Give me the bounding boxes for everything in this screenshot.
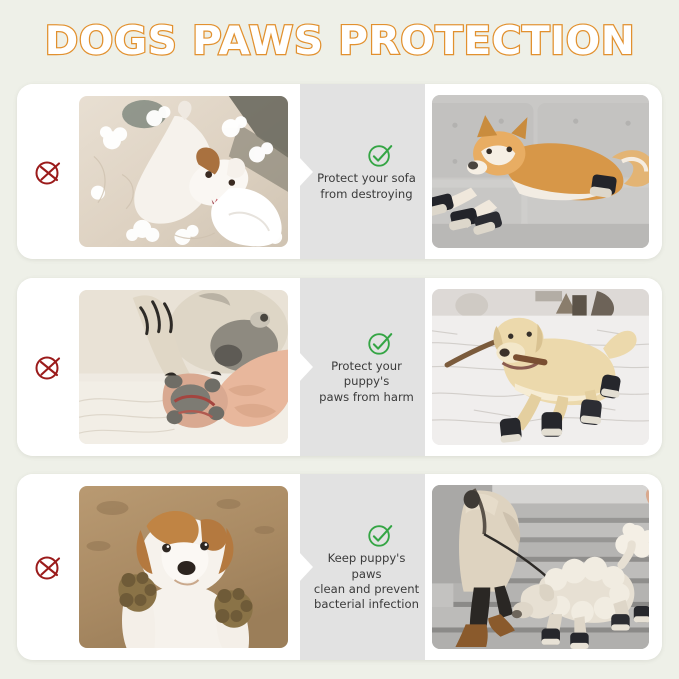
page-title-container: DOGS PAWS PROTECTION: [0, 0, 679, 82]
circle-cross-icon-box: [17, 352, 79, 382]
problem-pane: [17, 474, 300, 660]
benefit-card-sofa: Protect your sofa from destroying: [17, 84, 662, 259]
circle-cross-icon: [33, 552, 63, 582]
arrow-right-icon: [299, 157, 315, 187]
benefit-card-paws: Protect your puppy's paws from harm: [17, 278, 662, 456]
circle-check-icon: [366, 141, 394, 169]
solution-photo-snow: [432, 289, 649, 445]
problem-photo-paws: [79, 290, 288, 444]
solution-pane: [425, 84, 662, 259]
circle-cross-icon-box: [17, 157, 79, 187]
arrow-right-icon: [299, 352, 315, 382]
problem-pane: [17, 278, 300, 456]
circle-cross-icon: [33, 352, 63, 382]
circle-check-icon-box: [313, 521, 420, 549]
circle-cross-icon: [33, 157, 63, 187]
solution-pane: [425, 474, 662, 660]
benefit-text-panel: Keep puppy's paws clean and prevent bact…: [300, 474, 425, 660]
benefit-text-panel: Protect your puppy's paws from harm: [300, 278, 425, 456]
benefit-card-clean: Keep puppy's paws clean and prevent bact…: [17, 474, 662, 660]
circle-check-icon-box: [313, 329, 420, 357]
benefit-text: Keep puppy's paws clean and prevent bact…: [313, 551, 420, 613]
problem-pane: [17, 84, 300, 259]
problem-photo-muddy: [79, 486, 288, 648]
solution-photo-sofa: [432, 95, 649, 248]
circle-check-icon-box: [313, 141, 420, 169]
infographic-page: DOGS PAWS PROTECTION: [0, 0, 679, 679]
benefit-text: Protect your puppy's paws from harm: [313, 359, 420, 405]
arrow-right-icon: [299, 552, 315, 582]
benefit-text-panel: Protect your sofa from destroying: [300, 84, 425, 259]
solution-photo-stairs: [432, 485, 649, 649]
circle-check-icon: [366, 329, 394, 357]
circle-cross-icon-box: [17, 552, 79, 582]
benefit-text: Protect your sofa from destroying: [313, 171, 420, 202]
circle-check-icon: [366, 521, 394, 549]
problem-photo-sofa: [79, 96, 288, 247]
solution-pane: [425, 278, 662, 456]
page-title: DOGS PAWS PROTECTION: [44, 19, 635, 64]
